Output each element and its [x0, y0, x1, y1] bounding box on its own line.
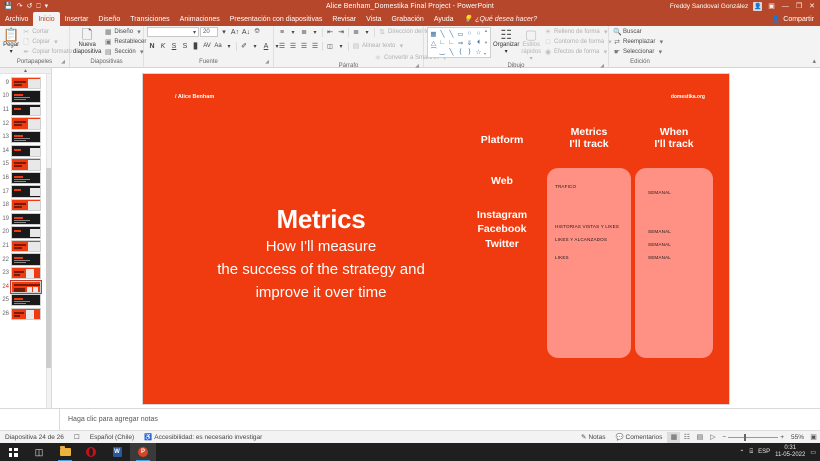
thumbnail-image[interactable]	[11, 158, 41, 170]
tab-diseno[interactable]: Diseño	[93, 12, 125, 26]
shape-right-arrow-icon[interactable]: ⇒	[456, 38, 465, 47]
shape-oval-icon[interactable]: ○	[465, 29, 474, 38]
underline-icon[interactable]: S	[169, 41, 179, 51]
thumbnail-image[interactable]	[11, 145, 41, 157]
shapes-scroll-down-icon[interactable]: ▼	[484, 41, 488, 45]
highlight-chevron-down-icon[interactable]: ▾	[250, 41, 260, 51]
paste-button[interactable]: 📋 Pegar ▾	[3, 27, 19, 56]
redo-icon[interactable]: ↺	[27, 3, 33, 10]
copy-button[interactable]: 🗋 Copiar ▾	[21, 38, 73, 47]
tell-me-label: ¿Qué desea hacer?	[475, 16, 537, 23]
thumbnail-mark	[14, 140, 26, 141]
tab-archivo[interactable]: Archivo	[0, 12, 33, 26]
line-spacing-chevron-down-icon[interactable]: ▾	[362, 27, 372, 37]
find-button[interactable]: 🔍 Buscar	[612, 28, 666, 37]
tab-presentacion[interactable]: Presentación con diapositivas	[225, 12, 328, 26]
search-icon: 🔍	[613, 28, 621, 37]
thumbnail-mark	[14, 138, 30, 139]
shape-connector-icon[interactable]: ∟	[447, 38, 456, 47]
when-card[interactable]: SEMANAL SEMANAL SEMANAL SEMANAL	[635, 168, 713, 358]
zoom-control[interactable]: − + 55%	[719, 434, 807, 441]
share-label: Compartir	[783, 16, 814, 23]
thumbnail-image[interactable]	[11, 104, 41, 116]
quick-styles-chevron-down-icon[interactable]: ▾	[530, 56, 533, 63]
network-icon[interactable]: ⌸	[749, 449, 753, 456]
windows-logo-icon	[9, 448, 18, 457]
thumbnail-image[interactable]	[11, 117, 41, 129]
collapse-ribbon-icon[interactable]: ▴	[812, 57, 816, 65]
thumbnail-image[interactable]	[11, 308, 41, 320]
shape-freeform-icon[interactable]: ⏜	[429, 47, 438, 56]
clipboard-group-label: Portapapeles ◢	[3, 59, 66, 67]
slide-title: Metrics	[171, 204, 471, 234]
grow-font-icon[interactable]: A↑	[230, 27, 240, 37]
thumbnail-mark	[14, 81, 26, 83]
thumbnail-image[interactable]	[11, 253, 41, 265]
opera-button[interactable]	[78, 443, 104, 461]
section-button[interactable]: ▤ Sección ▾	[103, 48, 147, 57]
language-indicator[interactable]: Español (Chile)	[85, 434, 139, 441]
arrange-chevron-down-icon[interactable]: ▾	[505, 49, 508, 56]
font-dialog-launcher-icon[interactable]: ◢	[265, 59, 269, 66]
bullets-chevron-down-icon[interactable]: ▾	[288, 27, 298, 37]
shape-right-brace-icon[interactable]: }	[465, 47, 474, 56]
slide-subtitle-line-2: the success of the strategy and	[171, 260, 471, 280]
column-header-when: When I'll track	[635, 126, 713, 150]
line-spacing-icon[interactable]: ≣	[351, 27, 361, 37]
new-slide-button[interactable]: 🗋 Nueva diapositiva	[73, 27, 101, 56]
thumbnail-row[interactable]: 21	[0, 239, 51, 253]
shape-fill-button[interactable]: ☀ Relleno de forma ▾	[543, 28, 615, 37]
column-header-platform: Platform	[463, 134, 541, 146]
ribbon-tabs: Archivo Inicio Insertar Diseño Transicio…	[0, 12, 820, 26]
thumbnail-row[interactable]: 19	[0, 212, 51, 226]
language-indicator-tray[interactable]: ESP	[758, 449, 770, 455]
comments-button[interactable]: 💬 Comentarios	[610, 433, 667, 441]
font-size-value: 20	[203, 29, 210, 35]
platform-twitter: Twitter	[463, 237, 541, 252]
slide-thumbnail-panel[interactable]: ▲ 91011121314151617181920212223242526	[0, 68, 52, 408]
ribbon-display-options-icon[interactable]: ▣	[767, 2, 776, 10]
shape-scribble-icon[interactable]: ╲	[447, 47, 456, 56]
shadow-icon[interactable]: S	[180, 41, 190, 51]
paste-chevron-down-icon[interactable]: ▾	[10, 49, 13, 56]
thumbnail-mark	[14, 274, 20, 276]
platform-web: Web	[463, 174, 541, 189]
italic-icon[interactable]: K	[158, 41, 168, 51]
folder-icon	[60, 448, 71, 456]
accessibility-status[interactable]: ♿ Accesibilidad: es necesario investigar	[139, 433, 267, 441]
clipboard-dialog-launcher-icon[interactable]: ◢	[61, 59, 65, 66]
reset-label: Restablecer	[114, 38, 146, 47]
zoom-level[interactable]: 55%	[786, 434, 804, 441]
thumbnail-mark	[14, 203, 26, 205]
layout-label: Diseño	[114, 28, 133, 37]
thumbnail-mark	[14, 312, 24, 314]
account-name[interactable]: Freddy Sandoval González	[670, 3, 748, 10]
metrics-card[interactable]: TRAFICO HISTORIAS VISTAS Y LIKES LIKES Y…	[547, 168, 631, 358]
tab-ayuda[interactable]: Ayuda	[429, 12, 459, 26]
thumbnail-mark	[14, 162, 26, 164]
select-label: Seleccionar	[623, 48, 654, 57]
thumbnail-mark	[14, 315, 20, 317]
slide-counter[interactable]: Diapositiva 24 de 26	[0, 434, 69, 441]
slide-sorter-icon[interactable]: ☷	[680, 432, 693, 443]
shape-rectangle-icon[interactable]: ▭	[456, 29, 465, 38]
thumbnail-mark	[14, 301, 30, 302]
thumbnail-number: 14	[1, 148, 11, 154]
thumbnail-image[interactable]	[11, 240, 41, 252]
share-button[interactable]: 👤 Compartir	[766, 12, 820, 26]
align-text-chevron-down-icon[interactable]: ▾	[397, 42, 405, 51]
text-highlight-icon[interactable]: ✐	[239, 41, 249, 51]
thumbnail-mark	[14, 247, 22, 249]
share-person-icon: 👤	[772, 15, 781, 23]
thumbnail-mark	[14, 244, 26, 246]
thumbnail-row[interactable]: 9	[0, 76, 51, 90]
thumbnail-mark	[28, 160, 41, 170]
customize-qat-icon[interactable]: ▾	[45, 3, 49, 10]
numbering-chevron-down-icon[interactable]: ▾	[310, 27, 320, 37]
thumbnail-row[interactable]: 26	[0, 307, 51, 321]
section-label: Sección	[114, 48, 135, 57]
select-chevron-down-icon[interactable]: ▾	[656, 48, 664, 57]
align-left-icon[interactable]: ☰	[277, 41, 287, 51]
panel-scrollbar-thumb[interactable]	[46, 168, 51, 368]
shrink-font-icon[interactable]: A↓	[241, 27, 251, 37]
para-divider-2	[348, 28, 349, 37]
copy-icon: 🗋	[22, 38, 30, 47]
close-button[interactable]: ✕	[808, 2, 816, 10]
columns-icon[interactable]: ◫	[325, 41, 335, 51]
save-icon[interactable]: 💾	[4, 3, 13, 10]
undo-icon[interactable]: ↷	[17, 3, 23, 10]
select-icon: ☛	[613, 48, 621, 57]
format-painter-icon: ✒	[22, 48, 30, 57]
font-color-icon[interactable]: A	[261, 41, 271, 51]
clock-date: 11-05-2022	[775, 452, 805, 459]
thumbnail-number: 10	[1, 93, 11, 99]
zoom-slider-handle[interactable]	[744, 434, 746, 441]
lightbulb-icon: 💡	[464, 15, 473, 23]
thumbnail-image[interactable]	[11, 267, 41, 279]
font-size-chevron-down-icon[interactable]: ▾	[219, 27, 229, 37]
tab-revisar[interactable]: Revisar	[327, 12, 361, 26]
shape-pentagon-icon[interactable]: ⏴	[474, 38, 483, 47]
shape-outline-button[interactable]: □ Contorno de forma ▾	[543, 38, 615, 47]
para-divider-4	[322, 42, 323, 51]
thumbnail-mark	[14, 260, 30, 261]
thumbnail-mark	[14, 124, 22, 126]
thumbnail-mark	[14, 206, 22, 208]
minimize-button[interactable]: —	[781, 3, 790, 10]
slide-stage: / Alice Benham domestika.org Metrics How…	[52, 68, 820, 408]
thumbnail-mark	[26, 269, 34, 279]
arrange-label: Organizar	[493, 42, 519, 49]
shape-left-brace-icon[interactable]: {	[456, 47, 465, 56]
slides-group-label: Diapositivas	[73, 59, 140, 67]
change-case-chevron-down-icon[interactable]: ▾	[224, 41, 234, 51]
thumbnail-mark	[14, 97, 30, 98]
metrics-table: Platform Metrics I'll track When I'll tr…	[463, 126, 713, 386]
thumbnail-image[interactable]	[11, 131, 41, 143]
shape-circle-icon[interactable]: ○	[474, 29, 483, 38]
shape-outline-label: Contorno de forma	[554, 38, 604, 47]
scissors-icon: ✂	[22, 28, 30, 37]
shape-effects-label: Efectos de forma	[554, 48, 599, 57]
word-button[interactable]: W	[104, 443, 130, 461]
thumbnail-mark	[27, 287, 32, 293]
numbering-icon[interactable]: ≣	[299, 27, 309, 37]
thumbnail-mark	[14, 99, 26, 100]
bullets-icon[interactable]: ≡	[277, 27, 287, 37]
align-text-label: Alinear texto	[362, 42, 395, 51]
thumbnail-image[interactable]	[11, 226, 41, 238]
shapes-more-icon[interactable]: ▾	[484, 52, 488, 56]
reading-view-icon[interactable]: ▤	[693, 432, 706, 443]
thumbnail-image[interactable]	[11, 213, 41, 225]
cut-button[interactable]: ✂ Cortar	[21, 28, 73, 37]
replace-button[interactable]: ⇄ Reemplazar ▾	[612, 38, 666, 47]
tab-transiciones[interactable]: Transiciones	[125, 12, 174, 26]
layout-button[interactable]: ▦ Diseño ▾	[103, 28, 147, 37]
format-painter-button[interactable]: ✒ Copiar formato	[21, 48, 73, 57]
thumbnail-row[interactable]: 20	[0, 226, 51, 240]
justify-icon[interactable]: ☰	[310, 41, 320, 51]
slideshow-icon[interactable]: ▷	[706, 432, 719, 443]
ribbon: 📋 Pegar ▾ ✂ Cortar 🗋 Copiar ▾ ✒	[0, 26, 820, 68]
avatar[interactable]: 👤	[753, 2, 762, 11]
zoom-slider[interactable]	[728, 437, 778, 438]
reset-icon: ▣	[104, 38, 112, 47]
align-center-icon[interactable]: ☰	[288, 41, 298, 51]
thumbnail-mark	[14, 257, 23, 259]
clipboard-icon: 📋	[3, 28, 19, 42]
arrange-icon: ☷	[500, 28, 512, 42]
thumbnail-image[interactable]	[11, 90, 41, 102]
metric-historias: HISTORIAS VISTAS Y LIKES	[555, 224, 619, 229]
thumbnail-mark	[14, 108, 21, 110]
notes-left-spacer	[8, 409, 60, 430]
thumbnail-mark	[26, 310, 34, 320]
font-size-input[interactable]: 20	[200, 27, 218, 37]
thumbnail-number: 11	[1, 107, 11, 113]
thumbnail-row[interactable]: 18	[0, 198, 51, 212]
layout-icon: ▦	[104, 28, 112, 37]
platform-facebook: Facebook	[463, 222, 541, 237]
shape-outline-icon: □	[544, 38, 552, 47]
align-right-icon[interactable]: ☰	[299, 41, 309, 51]
cut-label: Cortar	[32, 28, 49, 37]
notes-button[interactable]: ✎ Notas	[576, 433, 610, 441]
action-center-icon[interactable]: ▭	[810, 449, 816, 456]
thumbnail-mark	[14, 217, 23, 219]
character-spacing-icon[interactable]: AV	[202, 41, 212, 51]
column-header-metrics: Metrics I'll track	[547, 126, 631, 150]
file-explorer-button[interactable]	[52, 443, 78, 461]
task-view-icon: ◫	[35, 447, 44, 458]
tab-animaciones[interactable]: Animaciones	[175, 12, 225, 26]
normal-view-icon[interactable]: ▦	[667, 432, 680, 443]
thumbnail-number: 20	[1, 229, 11, 235]
when-twitter: SEMANAL	[648, 255, 671, 260]
powerpoint-button[interactable]: P	[130, 443, 156, 461]
powerpoint-window: 💾 ↷ ↺ ⎕ ▾ Alice Benham_Domestika Final P…	[0, 0, 820, 461]
shape-textbox-icon[interactable]: ▦	[429, 29, 438, 38]
thumbnail-number: 25	[1, 297, 11, 303]
layout-chevron-down-icon[interactable]: ▾	[135, 28, 143, 37]
status-bar: Diapositiva 24 de 26 ☐ Español (Chile) ♿…	[0, 430, 820, 443]
thumbnail-number: 22	[1, 257, 11, 263]
thumbnail-row[interactable]: 14	[0, 144, 51, 158]
change-case-icon[interactable]: Aa	[213, 41, 223, 51]
thumbnail-mark	[33, 287, 38, 293]
taskbar-clock[interactable]: 0:31 11-05-2022	[775, 445, 805, 459]
accessibility-label: Accesibilidad: es necesario investigar	[154, 434, 262, 441]
opera-icon	[86, 447, 96, 457]
task-view-button[interactable]: ◫	[26, 443, 52, 461]
shapes-scroll-up-icon[interactable]: ▲	[484, 29, 488, 33]
tab-inicio[interactable]: Inicio	[33, 12, 59, 26]
replace-chevron-down-icon[interactable]: ▾	[657, 38, 665, 47]
panel-scrollbar[interactable]	[46, 74, 51, 408]
copy-label: Copiar	[32, 38, 50, 47]
tray-chevron-up-icon[interactable]: ⌃	[739, 449, 744, 456]
tab-grabacion[interactable]: Grabación	[387, 12, 429, 26]
system-tray: ⌃ ⌸ ESP 0:31 11-05-2022 ▭	[739, 445, 820, 459]
font-name-input[interactable]: ▾	[147, 27, 199, 37]
notes-pane[interactable]: Haga clic para agregar notas	[0, 408, 820, 430]
thumbnail-mark	[30, 188, 40, 196]
columns-chevron-down-icon[interactable]: ▾	[336, 41, 346, 51]
format-painter-label: Copiar formato	[32, 48, 72, 57]
accessibility-icon: ♿	[144, 433, 152, 441]
shape-elbow-icon[interactable]: ∟	[438, 38, 447, 47]
thumbnail-image[interactable]	[11, 185, 41, 197]
align-text-button[interactable]: ▤ Alinear texto ▾	[351, 42, 406, 51]
slide-notes-indicator-icon[interactable]: ☐	[69, 433, 85, 441]
thumbnail-mark	[14, 271, 24, 273]
new-slide-icon: 🗋	[82, 28, 92, 42]
shape-arrow-icon[interactable]: ╲	[447, 29, 456, 38]
increase-indent-icon[interactable]: ⇥	[336, 27, 346, 37]
comments-button-label: Comentarios	[626, 434, 663, 441]
current-slide[interactable]: / Alice Benham domestika.org Metrics How…	[143, 74, 729, 404]
platform-instagram: Instagram	[463, 208, 541, 223]
thumbnail-mark	[14, 262, 26, 263]
shape-star-icon[interactable]: ☆	[474, 47, 483, 56]
reset-button[interactable]: ▣ Restablecer	[103, 38, 147, 47]
thumbnail-row[interactable]: 15	[0, 158, 51, 172]
thumbnail-mark	[28, 119, 41, 129]
thumbnail-number: 24	[1, 284, 11, 290]
paste-label: Pegar	[3, 42, 19, 49]
thumbnail-mark	[14, 220, 30, 221]
thumbnail-row[interactable]: 22	[0, 253, 51, 267]
restore-button[interactable]: ❐	[795, 2, 803, 10]
arrange-button[interactable]: ☷ Organizar ▾	[493, 27, 519, 56]
thumbnail-mark	[14, 135, 23, 137]
para-divider-3	[374, 28, 375, 37]
thumbnail-mark	[14, 181, 26, 182]
thumbnail-image[interactable]	[11, 199, 41, 211]
ribbon-group-paragraph: ≡ ▾ ≣ ▾ ⇤ ⇥ ≣ ▾ ⇅ Dirección del texto ▾	[274, 26, 424, 67]
tab-vista[interactable]: Vista	[361, 12, 386, 26]
text-direction-icon: ⇅	[378, 28, 386, 37]
windows-taskbar: ◫ W P ⌃ ⌸ ESP 0:31 11-05-2022 ▭	[0, 443, 820, 461]
metric-trafico: TRAFICO	[555, 184, 576, 189]
shape-curve-icon[interactable]: ⏝	[438, 47, 447, 56]
thumbnail-row[interactable]: 10	[0, 90, 51, 104]
thumbnail-image[interactable]	[11, 77, 41, 89]
shapes-gallery[interactable]: ▦ ╲ ╲ ▭ ○ ○ △ ∟ ∟ ⇒ ⇓ ⏴ ⏜ ⏝ ╲	[427, 27, 491, 58]
thumbnail-mark	[14, 222, 26, 223]
thumbnail-row[interactable]: 11	[0, 103, 51, 117]
title-bar: 💾 ↷ ↺ ⎕ ▾ Alice Benham_Domestika Final P…	[0, 0, 820, 12]
ribbon-group-drawing: ▦ ╲ ╲ ▭ ○ ○ △ ∟ ∟ ⇒ ⇓ ⏴ ⏜ ⏝ ╲	[424, 26, 609, 67]
thumbnail-image[interactable]	[11, 281, 41, 293]
font-divider	[236, 42, 237, 51]
tell-me-box[interactable]: 💡 ¿Qué desea hacer?	[459, 12, 543, 26]
thumbnail-image[interactable]	[11, 294, 41, 306]
thumbnail-row[interactable]: 25	[0, 294, 51, 308]
replace-icon: ⇄	[613, 38, 621, 47]
thumbnail-row[interactable]: 13	[0, 130, 51, 144]
quick-styles-button[interactable]: ▢ Estilos rápidos ▾	[521, 27, 541, 63]
copy-chevron-down-icon[interactable]: ▾	[52, 38, 60, 47]
thumbnail-number: 18	[1, 202, 11, 208]
start-slideshow-icon[interactable]: ⎕	[36, 3, 40, 10]
bold-icon[interactable]: N	[147, 41, 157, 51]
zoom-in-button[interactable]: +	[780, 434, 784, 441]
ribbon-group-editing: 🔍 Buscar ⇄ Reemplazar ▾ ☛ Seleccionar ▾	[609, 26, 671, 67]
shape-line-icon[interactable]: ╲	[438, 29, 447, 38]
shape-effects-button[interactable]: ◉ Efectos de forma ▾	[543, 48, 615, 57]
thumbnail-row[interactable]: 24	[0, 280, 51, 294]
font-group-label: Fuente ◢	[147, 59, 270, 67]
notes-button-label: Notas	[588, 434, 605, 441]
thumbnail-mark	[14, 165, 22, 167]
quick-styles-label: Estilos rápidos	[521, 42, 541, 56]
thumbnail-row[interactable]: 17	[0, 185, 51, 199]
replace-label: Reemplazar	[623, 38, 655, 47]
strikethrough-icon[interactable]: ▊	[191, 41, 201, 51]
thumbnail-mark	[30, 229, 40, 237]
para-divider-1	[322, 28, 323, 37]
thumbnail-mark	[14, 303, 26, 304]
slide-subtitle-line-1: How I'll measure	[171, 237, 471, 257]
zoom-out-button[interactable]: −	[722, 434, 726, 441]
shape-down-arrow-icon[interactable]: ⇓	[465, 38, 474, 47]
thumbnail-row[interactable]: 23	[0, 266, 51, 280]
font-name-chevron-down-icon[interactable]: ▾	[193, 29, 196, 36]
start-button[interactable]	[0, 443, 26, 461]
fit-to-window-icon[interactable]: ▣	[807, 432, 820, 443]
thumbnail-image[interactable]	[11, 172, 41, 184]
thumbnail-row[interactable]: 16	[0, 171, 51, 185]
thumbnail-mark	[14, 179, 30, 180]
decrease-indent-icon[interactable]: ⇤	[325, 27, 335, 37]
clear-formatting-icon[interactable]: ⎊	[252, 27, 262, 37]
notes-placeholder: Haga clic para agregar notas	[60, 416, 158, 423]
platform-column: Web Instagram Facebook Twitter	[463, 174, 541, 251]
clock-time: 0:31	[775, 445, 805, 452]
shape-triangle-icon[interactable]: △	[429, 38, 438, 47]
thumbnail-number: 26	[1, 311, 11, 317]
tab-insertar[interactable]: Insertar	[60, 12, 94, 26]
select-button[interactable]: ☛ Seleccionar ▾	[612, 48, 666, 57]
thumbnail-row[interactable]: 12	[0, 117, 51, 131]
